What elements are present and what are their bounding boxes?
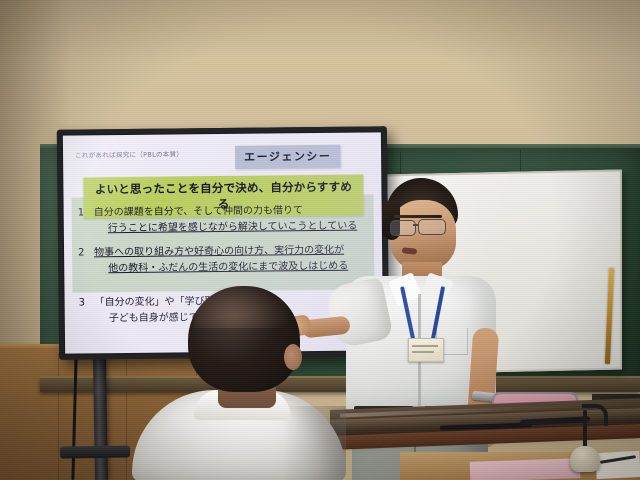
blackboard-panel-seam bbox=[520, 150, 521, 174]
badge-text-line bbox=[412, 351, 434, 353]
microphone-base[interactable] bbox=[570, 446, 600, 472]
attendee-shoulder-shading bbox=[282, 406, 346, 480]
wall-top-shading bbox=[0, 0, 640, 60]
monitor-stand-pole bbox=[93, 356, 108, 480]
eyeglasses-left-lens bbox=[390, 220, 416, 236]
blackboard-panel-seam bbox=[400, 152, 401, 174]
seated-attendee bbox=[132, 286, 346, 480]
classroom-photo-scene: これがあれば探究に（PBLの本質） エージェンシー よいと思ったことを自分で決め… bbox=[0, 0, 640, 480]
badge-text-line bbox=[412, 345, 438, 347]
monitor-stand-base bbox=[60, 445, 130, 458]
attendee-hair-highlight bbox=[194, 284, 292, 328]
presenter-eyebrow bbox=[394, 215, 442, 218]
id-badge bbox=[408, 338, 444, 362]
wainscot-seam bbox=[58, 353, 59, 480]
attendee-ear bbox=[284, 344, 302, 370]
microphone-stem bbox=[583, 410, 587, 450]
wainscot-seam bbox=[126, 353, 127, 480]
pink-paper bbox=[470, 458, 581, 480]
eyeglasses-right-lens bbox=[418, 219, 446, 235]
eyeglasses-bridge bbox=[413, 224, 419, 226]
